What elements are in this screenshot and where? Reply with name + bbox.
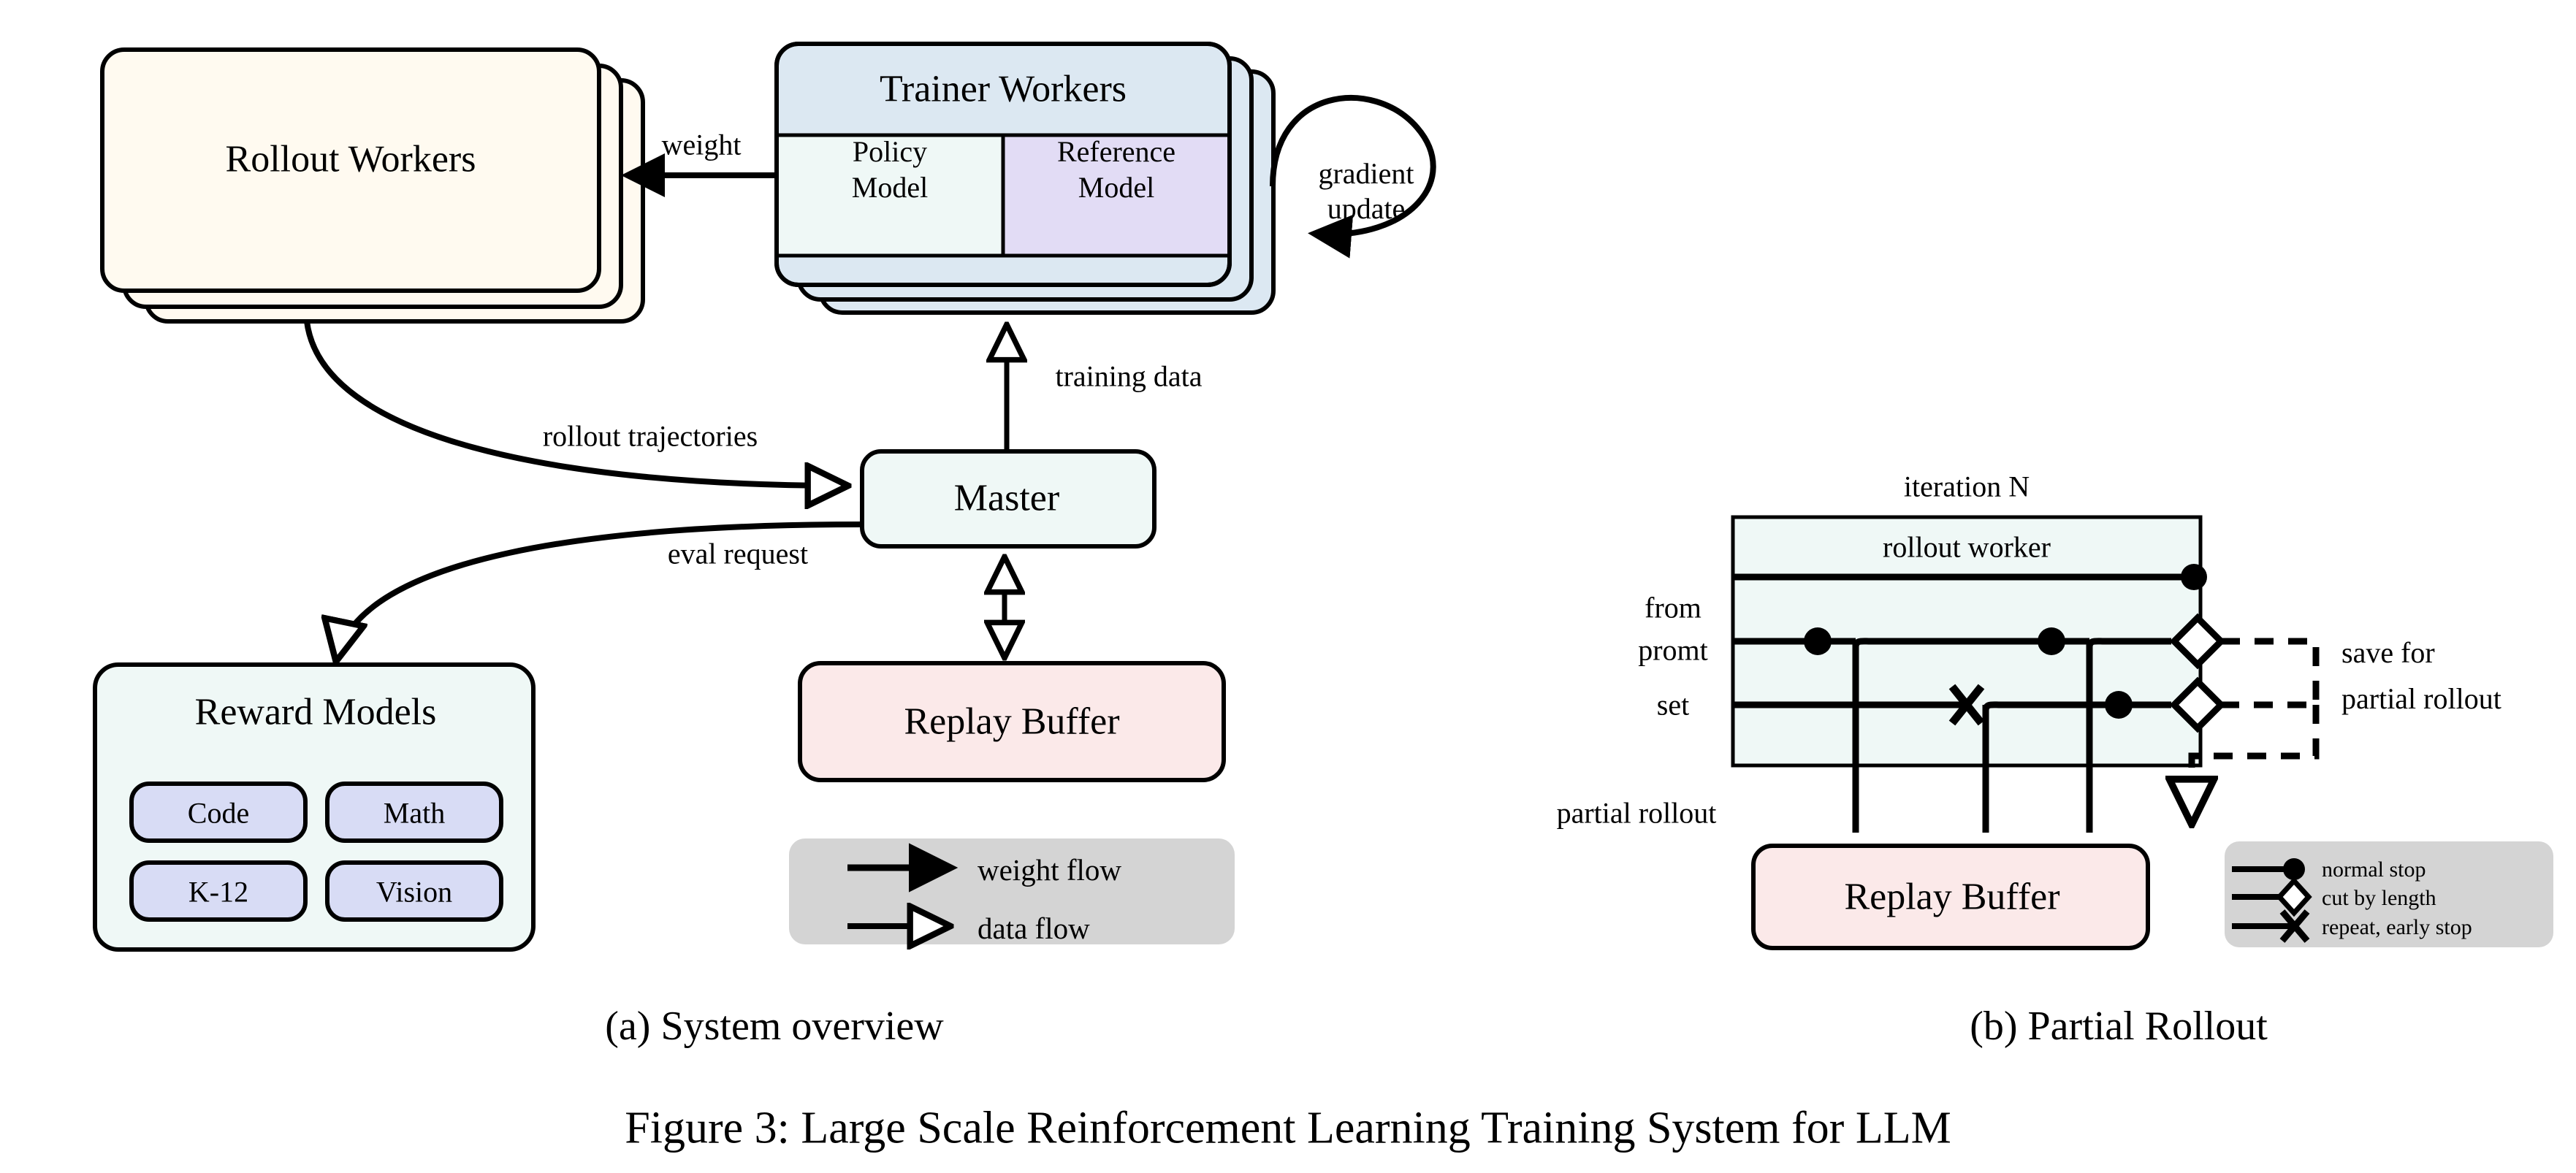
reward-models-label: Reward Models <box>195 691 437 734</box>
iteration-label: iteration N <box>1904 470 2030 504</box>
reward-model-math[interactable]: Math <box>384 796 445 830</box>
gradient-update-line2: update <box>1327 192 1406 225</box>
replay-buffer-label-b: Replay Buffer <box>1844 876 2059 919</box>
reward-model-k12[interactable]: K-12 <box>188 875 248 909</box>
policy-model-label: PolicyModel <box>852 134 928 206</box>
rollout-workers-label: Rollout Workers <box>226 138 476 181</box>
policy-model-line2: Model <box>852 171 928 204</box>
subcaption-a: (a) System overview <box>605 1003 943 1050</box>
replay-buffer-label-a: Replay Buffer <box>904 700 1119 744</box>
prompt-source-line2: promt <box>1638 633 1708 668</box>
figure-root: Rollout Workers Trainer Workers PolicyMo… <box>0 0 2576 1173</box>
reward-model-vision[interactable]: Vision <box>376 875 452 909</box>
save-note-line2: partial rollout <box>2341 681 2501 716</box>
reference-model-line1: Reference <box>1057 135 1175 168</box>
reference-model-label: ReferenceModel <box>1057 134 1175 206</box>
legend-b-item-cut-by-length: cut by length <box>2322 886 2436 911</box>
legend-b-item-normal-stop: normal stop <box>2322 857 2426 882</box>
partial-rollout-label: partial rollout <box>1557 796 1717 830</box>
edge-rollout-trajectories <box>307 321 847 486</box>
eval-request-edge-label: eval request <box>668 537 808 571</box>
save-for-partial-rollout-path <box>2192 641 2316 824</box>
weight-edge-label: weight <box>662 128 742 162</box>
reference-model-line2: Model <box>1078 171 1154 204</box>
legend-b-item-repeat-early-stop: repeat, early stop <box>2322 915 2472 940</box>
legend-a-item-data-flow: data flow <box>978 911 1090 946</box>
save-note-line1: save for <box>2341 635 2435 670</box>
figure-caption: Figure 3: Large Scale Reinforcement Lear… <box>625 1103 1951 1155</box>
master-label: Master <box>954 477 1059 520</box>
rollout-worker-label-b: rollout worker <box>1883 530 2051 565</box>
rollout-workers-node[interactable] <box>102 50 643 321</box>
gradient-update-label: gradientupdate <box>1318 156 1414 226</box>
policy-model-line1: Policy <box>853 135 927 168</box>
prompt-source-line1: from <box>1645 591 1702 625</box>
subcaption-b: (b) Partial Rollout <box>1970 1003 2268 1050</box>
gradient-update-line1: gradient <box>1318 157 1414 190</box>
legend-a-item-weight-flow: weight flow <box>978 852 1121 887</box>
rollout-trajectories-edge-label: rollout trajectories <box>543 419 758 454</box>
prompt-source-line3: set <box>1657 688 1689 722</box>
reward-model-code[interactable]: Code <box>188 796 249 830</box>
trainer-workers-label: Trainer Workers <box>880 68 1127 111</box>
training-data-edge-label: training data <box>1055 359 1202 394</box>
